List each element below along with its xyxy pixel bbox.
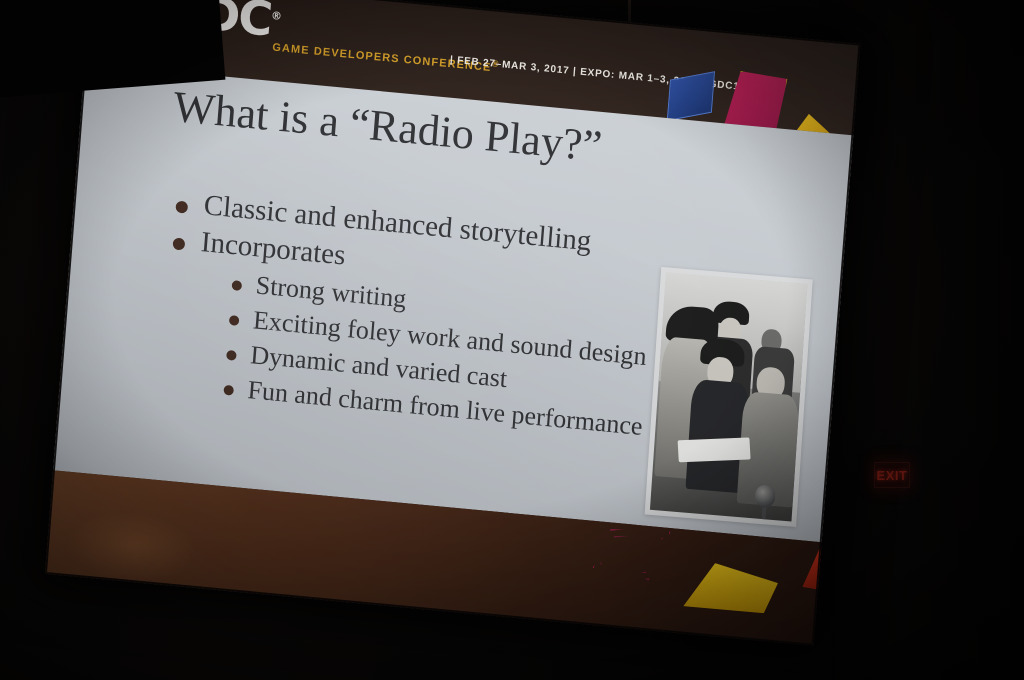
projection-screen: GDC® GAME DEVELOPERS CONFERENCE® | FEB 2…	[45, 0, 861, 646]
projection-screen-wrapper: GDC® GAME DEVELOPERS CONFERENCE® | FEB 2…	[45, 0, 861, 646]
decoration-blue-polygon-icon	[667, 71, 715, 121]
gdc-logo-trademark: ®	[270, 9, 282, 23]
exit-sign-label: EXIT	[877, 468, 908, 483]
decoration-yellow-polygon-icon	[681, 562, 778, 614]
slide-photo	[645, 267, 813, 527]
footer-light-glow	[65, 506, 200, 588]
decoration-magenta-wireframe-icon	[591, 527, 671, 583]
photo-script-paper	[678, 437, 751, 462]
slide-body: What is a “Radio Play?” Classic and enha…	[53, 63, 853, 542]
exit-sign: EXIT	[874, 462, 910, 488]
slide-sub-bullet-list: Strong writing Exciting foley work and s…	[189, 263, 664, 445]
slide-bullet-list: Classic and enhanced storytelling Incorp…	[155, 184, 670, 446]
slide-photo-image	[650, 272, 807, 521]
presentation-slide: GDC® GAME DEVELOPERS CONFERENCE® | FEB 2…	[45, 0, 861, 646]
screenshot-stage: EXIT GDC® GAME DEVELOPERS CONFERENCE® | …	[0, 0, 1024, 680]
